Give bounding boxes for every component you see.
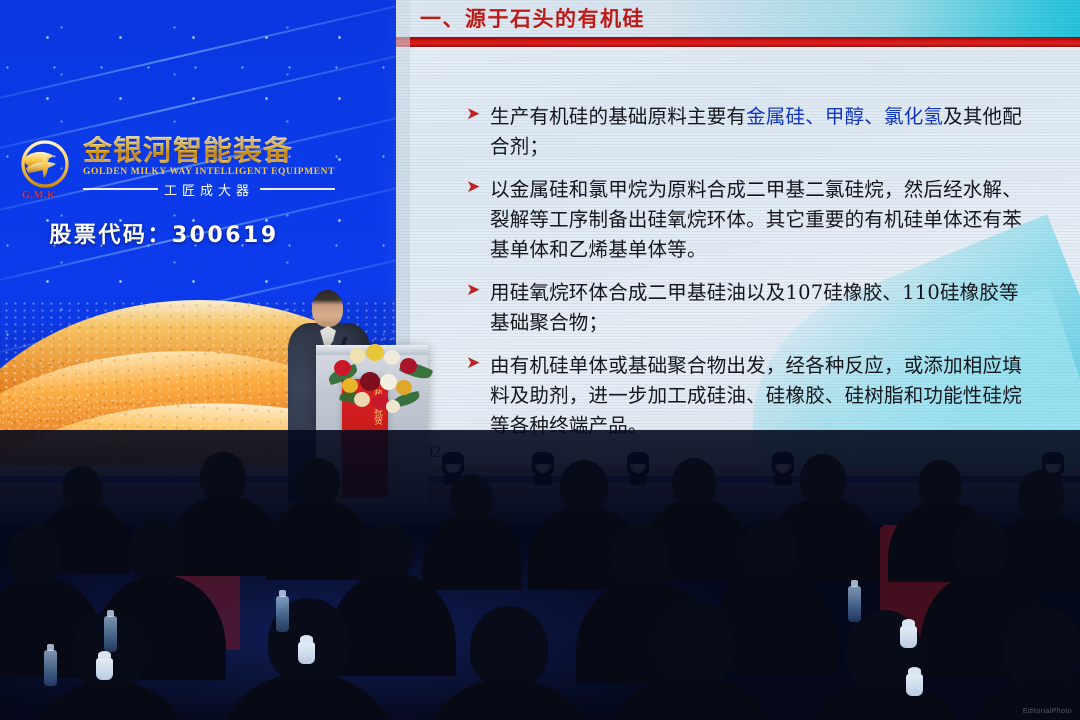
- slide-bullet-item: ➤以金属硅和氯甲烷为原料合成二甲基二氯硅烷，然后经水解、裂解等工序制备出硅氧烷环…: [466, 175, 1070, 264]
- projection-slide: 一、源于石头的有机硅 ➤生产有机硅的基础原料主要有金属硅、甲醇、氯化氢及其他配合…: [396, 0, 1080, 470]
- audience-head: [952, 516, 1008, 576]
- water-bottle: [848, 586, 861, 622]
- slide-title-rule: [396, 37, 1080, 47]
- logo-slogan-text: 工匠成大器: [164, 180, 254, 199]
- slide-bullet-text: 用硅氧烷环体合成二甲基硅油以及107硅橡胶、110硅橡胶等基础聚合物；: [490, 278, 1030, 337]
- bullet-arrow-icon: ➤: [466, 351, 490, 377]
- bullet-arrow-icon: ➤: [466, 102, 490, 128]
- audience-head: [1004, 606, 1080, 688]
- audience-head: [560, 460, 608, 512]
- water-bottle: [276, 596, 289, 632]
- logo-text-column: 金银河智能装备 GOLDEN MILKY WAY INTELLIGENT EQU…: [83, 136, 335, 199]
- audience-head: [610, 524, 668, 586]
- tea-cup: [906, 674, 923, 696]
- slide-bullet-item: ➤由有机硅单体或基础聚合物出发，经各种反应，或添加相应填料及助剂，进一步加工成硅…: [466, 351, 1070, 440]
- slide-bullet-text: 由有机硅单体或基础聚合物出发，经各种反应，或添加相应填料及助剂，进一步加工成硅油…: [490, 351, 1030, 440]
- flower-basket: [326, 334, 436, 426]
- bullet-text-segment: 以金属硅和氯甲烷为原料合成二甲基二氯硅烷，然后经水解、裂解等工序制备出硅氧烷环体…: [490, 178, 1022, 260]
- logo-slogan-row: 工匠成大器: [83, 180, 335, 199]
- audience-head: [800, 454, 846, 504]
- slide-bullet-list: ➤生产有机硅的基础原料主要有金属硅、甲醇、氯化氢及其他配合剂；➤以金属硅和氯甲烷…: [466, 102, 1070, 454]
- audience-head: [1018, 470, 1064, 520]
- highlighted-term: 金属硅、甲醇、氯化氢: [746, 105, 943, 128]
- water-bottle: [104, 616, 117, 652]
- slide-bullet-text: 以金属硅和氯甲烷为原料合成二甲基二氯硅烷，然后经水解、裂解等工序制备出硅氧烷环体…: [490, 175, 1030, 264]
- slide-bullet-text: 生产有机硅的基础原料主要有金属硅、甲醇、氯化氢及其他配合剂；: [490, 102, 1030, 161]
- logo-english-name: GOLDEN MILKY WAY INTELLIGENT EQUIPMENT: [83, 167, 335, 177]
- speaker-head: [312, 290, 343, 327]
- bullet-arrow-icon: ➤: [466, 278, 490, 304]
- stock-code-text: 股票代码：300619: [14, 217, 314, 249]
- watermark-text: EditorialPhoto: [1023, 708, 1072, 715]
- audience-foreground: [0, 430, 1080, 720]
- golden-milky-way-emblem-icon: G.M.K: [14, 138, 76, 196]
- tea-cup: [96, 658, 113, 680]
- screenshot-root: G.M.K 金银河智能装备 GOLDEN MILKY WAY INTELLIGE…: [0, 0, 1080, 720]
- slide-bullet-item: ➤用硅氧烷环体合成二甲基硅油以及107硅橡胶、110硅橡胶等基础聚合物；: [466, 278, 1070, 337]
- logo-row: G.M.K 金银河智能装备 GOLDEN MILKY WAY INTELLIGE…: [14, 136, 314, 199]
- bullet-text-segment: 生产有机硅的基础原料主要有: [490, 105, 746, 128]
- audience-head: [654, 602, 734, 686]
- water-bottle: [44, 650, 57, 686]
- slogan-dash-left: [83, 188, 158, 190]
- audience-head: [672, 458, 716, 506]
- slide-title: 一、源于石头的有机硅: [420, 3, 645, 33]
- audience-head: [128, 520, 184, 582]
- bullet-arrow-icon: ➤: [466, 175, 490, 201]
- tea-cup: [900, 626, 917, 648]
- bullet-text-segment: 用硅氧烷环体合成二甲基硅油以及107硅橡胶、110硅橡胶等基础聚合物；: [490, 281, 1019, 334]
- company-branding-block: G.M.K 金银河智能装备 GOLDEN MILKY WAY INTELLIGE…: [14, 136, 314, 249]
- audience-head: [200, 452, 246, 502]
- bullet-text-segment: 由有机硅单体或基础聚合物出发，经各种反应，或添加相应填料及助剂，进一步加工成硅油…: [490, 354, 1022, 436]
- emblem-mark-text: G.M.K: [22, 190, 56, 201]
- audience-head: [360, 522, 414, 580]
- logo-chinese-name: 金银河智能装备: [83, 136, 335, 166]
- audience-head: [742, 518, 796, 576]
- audience-head: [918, 460, 962, 508]
- audience-head: [8, 526, 60, 584]
- tea-cup: [298, 642, 315, 664]
- slogan-dash-right: [260, 188, 335, 190]
- audience-head: [470, 606, 548, 688]
- slide-bullet-item: ➤生产有机硅的基础原料主要有金属硅、甲醇、氯化氢及其他配合剂；: [466, 102, 1070, 161]
- audience-head: [296, 458, 340, 506]
